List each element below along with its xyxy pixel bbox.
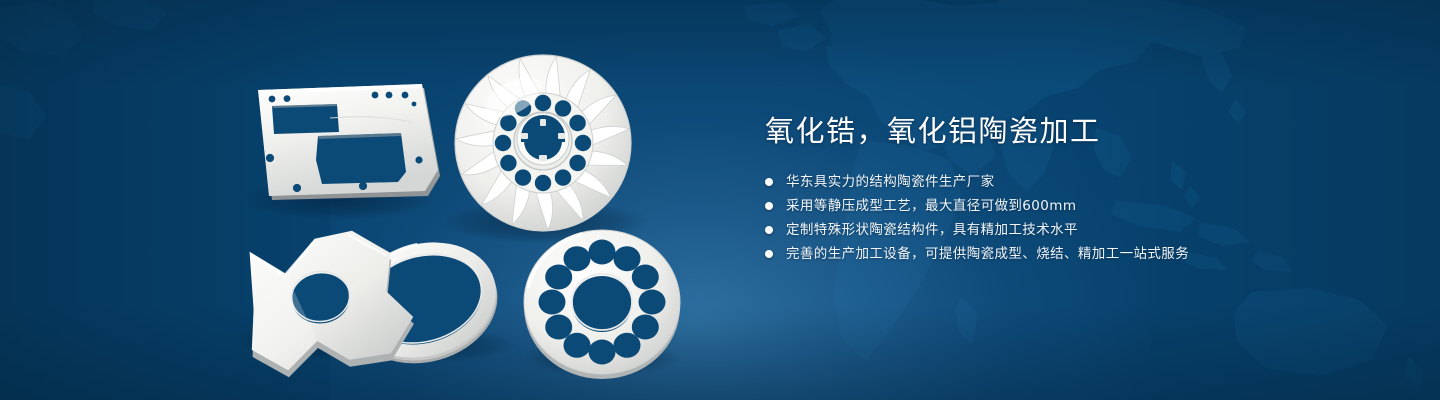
feature-text: 完善的生产加工设备，可提供陶瓷成型、烧结、精加工一站式服务: [786, 246, 1189, 262]
feature-list-item: 华东具实力的结构陶瓷件生产厂家: [765, 174, 1365, 190]
feature-text: 采用等静压成型工艺，最大直径可做到600mm: [786, 198, 1076, 214]
ceramic-perforated-disc-shape: [524, 230, 680, 379]
bullet-dot-icon: [765, 226, 773, 234]
banner-headline: 氧化锆，氧化铝陶瓷加工: [765, 112, 1365, 150]
feature-list-item: 采用等静压成型工艺，最大直径可做到600mm: [765, 198, 1365, 214]
feature-text: 华东具实力的结构陶瓷件生产厂家: [786, 174, 995, 190]
ceramic-plate-shape: [258, 84, 440, 200]
ceramic-products-image: [0, 0, 720, 400]
bullet-dot-icon: [765, 178, 773, 186]
feature-list: 华东具实力的结构陶瓷件生产厂家 采用等静压成型工艺，最大直径可做到600mm 定…: [765, 174, 1365, 262]
feature-list-item: 完善的生产加工设备，可提供陶瓷成型、烧结、精加工一站式服务: [765, 246, 1365, 262]
hero-banner: 氧化锆，氧化铝陶瓷加工 华东具实力的结构陶瓷件生产厂家 采用等静压成型工艺，最大…: [0, 0, 1440, 400]
banner-copy: 氧化锆，氧化铝陶瓷加工 华东具实力的结构陶瓷件生产厂家 采用等静压成型工艺，最大…: [765, 112, 1365, 262]
bullet-dot-icon: [765, 202, 773, 210]
bullet-dot-icon: [765, 250, 773, 258]
feature-list-item: 定制特殊形状陶瓷结构件，具有精加工技术水平: [765, 222, 1365, 238]
feature-text: 定制特殊形状陶瓷结构件，具有精加工技术水平: [786, 222, 1078, 238]
ceramic-impeller-shape: [455, 55, 631, 231]
